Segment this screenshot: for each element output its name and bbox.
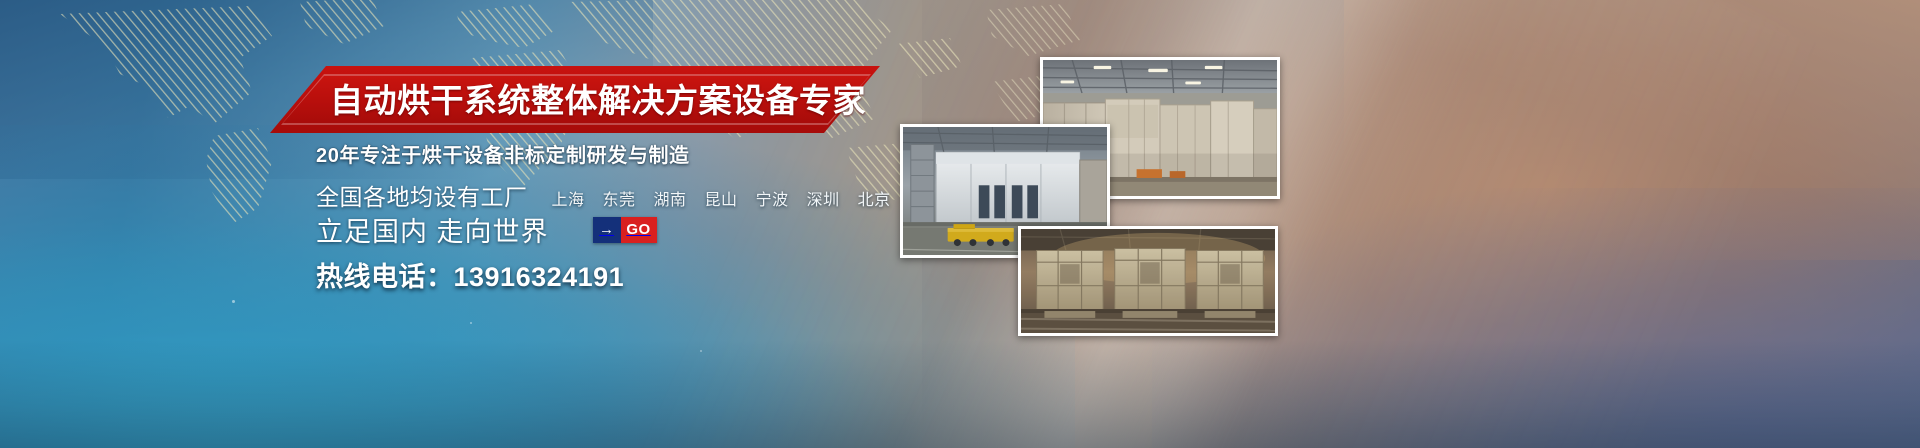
go-button[interactable]: → GO: [593, 217, 657, 243]
city-item: 北京: [858, 186, 891, 210]
go-button-label: GO: [621, 217, 657, 243]
sparkle-dot: [700, 350, 702, 352]
sparkle-dot: [470, 322, 472, 324]
background-bottom-shade: [0, 340, 1920, 448]
arrow-right-icon: →: [593, 217, 621, 243]
subtitle-primary: 20年专注于烘干设备非标定制研发与制造: [316, 139, 690, 168]
slogan-line: 立足国内 走向世界 → GO: [316, 210, 657, 249]
city-list: 上海 东莞 湖南 昆山 宁波 深圳 北京 天津: [552, 186, 942, 210]
photo-drying-oven-image: [1021, 229, 1275, 336]
factories-label: 全国各地均设有工厂: [316, 178, 528, 212]
city-item: 湖南: [654, 186, 687, 210]
slogan-text: 立足国内 走向世界: [316, 210, 549, 249]
sparkle-dot: [232, 300, 235, 303]
promo-banner: 自动烘干系统整体解决方案设备专家 20年专注于烘干设备非标定制研发与制造 全国各…: [0, 0, 1920, 448]
city-item: 上海: [552, 186, 585, 210]
hotline-label: 热线电话：: [316, 262, 454, 292]
page-title: 自动烘干系统整体解决方案设备专家: [330, 78, 890, 123]
city-item: 深圳: [807, 186, 840, 210]
photo-drying-oven: [1018, 226, 1278, 336]
city-item: 昆山: [705, 186, 738, 210]
hotline-number: 13916324191: [454, 262, 625, 292]
city-item: 宁波: [756, 186, 789, 210]
hotline: 热线电话：13916324191: [316, 255, 624, 294]
city-item: 东莞: [603, 186, 636, 210]
factories-line: 全国各地均设有工厂 上海 东莞 湖南 昆山 宁波 深圳 北京 天津: [316, 178, 942, 212]
